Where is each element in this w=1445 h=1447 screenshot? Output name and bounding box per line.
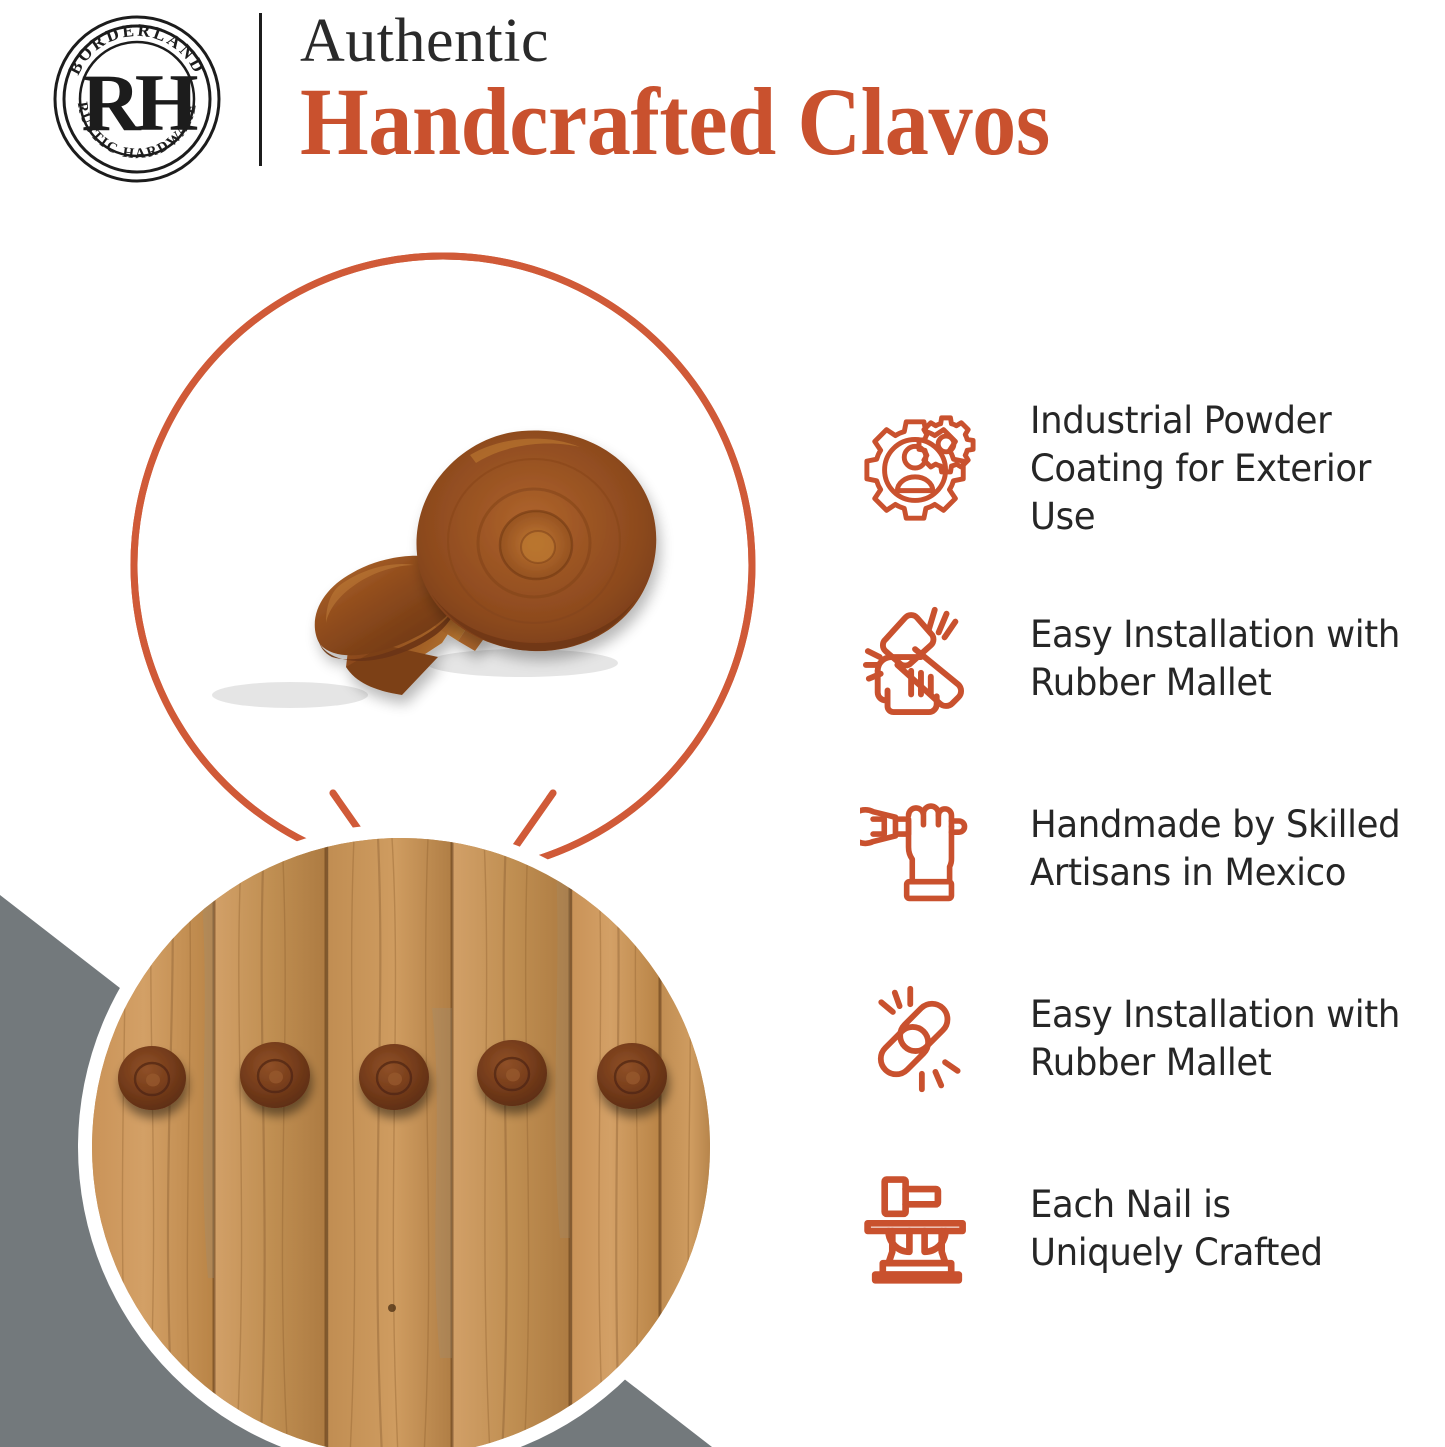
feature-item-powder-coating: Industrial Powder Coating for Exterior U…	[852, 374, 1445, 564]
feature-item-easy-install-mallet-2: Easy Installation with Rubber Mallet	[852, 944, 1445, 1134]
feature-label: Easy Installation with Rubber Mallet	[1030, 611, 1400, 707]
hand-mallet-icon	[852, 600, 1030, 718]
chain-link-icon	[852, 981, 1030, 1097]
feature-label: Easy Installation with Rubber Mallet	[1030, 991, 1400, 1087]
feature-label: Industrial Powder Coating for Exterior U…	[1030, 397, 1435, 541]
gear-person-icon	[852, 410, 1030, 528]
door-photo-circle	[92, 838, 710, 1447]
page-title: Handcrafted Clavos	[300, 70, 1330, 174]
page-subtitle: Authentic	[300, 8, 1420, 74]
product-infographic: BORDERLAND RUSTIC HARDWARE RH Authentic …	[0, 0, 1445, 1447]
title-block: Authentic Handcrafted Clavos	[300, 0, 1420, 174]
feature-label: Handmade by Skilled Artisans in Mexico	[1030, 801, 1400, 897]
door-photo	[92, 838, 710, 1447]
product-callout-circle	[128, 250, 758, 880]
header-divider	[259, 13, 262, 166]
header: BORDERLAND RUSTIC HARDWARE RH Authentic …	[0, 0, 1445, 196]
feature-item-easy-install-mallet: Easy Installation with Rubber Mallet	[852, 564, 1445, 754]
svg-text:RH: RH	[82, 57, 198, 148]
feature-label: Each Nail is Uniquely Crafted	[1030, 1181, 1323, 1277]
feature-item-handmade-artisans: Handmade by Skilled Artisans in Mexico	[852, 754, 1445, 944]
brand-logo: BORDERLAND RUSTIC HARDWARE RH	[52, 14, 222, 184]
feature-item-uniquely-crafted: Each Nail is Uniquely Crafted	[852, 1134, 1445, 1324]
feature-list: Industrial Powder Coating for Exterior U…	[852, 374, 1445, 1324]
anvil-hammer-icon	[852, 1172, 1030, 1286]
fist-wrench-icon	[852, 793, 1030, 905]
